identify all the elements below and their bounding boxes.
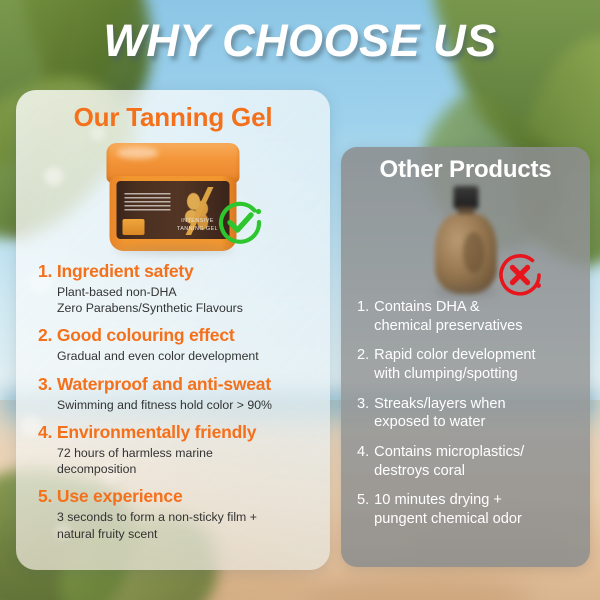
- drawback-text: Contains DHA & chemical preservatives: [374, 298, 522, 335]
- benefit-heading: 4. Environmentally friendly: [38, 422, 330, 443]
- bottle-body: [435, 214, 497, 294]
- drawback-text: Contains microplastics/ destroys coral: [374, 443, 524, 480]
- bottle-cap: [453, 186, 478, 209]
- benefit-heading: 3. Waterproof and anti-sweat: [38, 374, 330, 395]
- benefits-list: 1. Ingredient safety Plant-based non-DHA…: [16, 261, 330, 542]
- benefit-title: Waterproof and anti-sweat: [57, 374, 271, 394]
- page-title: WHY CHOOSE US: [0, 15, 600, 67]
- jar-label: INTENSIVETANNING GEL: [117, 181, 230, 239]
- benefit-title: Environmentally friendly: [57, 422, 256, 442]
- other-products-title: Other Products: [341, 156, 590, 184]
- list-item: 1. Contains DHA & chemical preservatives: [357, 298, 578, 335]
- jar-name-line1: INTENSIVE: [181, 218, 214, 224]
- competitor-bottle: [435, 186, 497, 294]
- list-item: 4. Environmentally friendly 72 hours of …: [38, 422, 330, 477]
- infographic-canvas: WHY CHOOSE US Our Tanning Gel INTENSIVET…: [0, 0, 600, 600]
- our-product-image: INTENSIVETANNING GEL: [16, 137, 330, 255]
- drawback-number: 2.: [357, 346, 369, 383]
- our-product-title: Our Tanning Gel: [16, 102, 330, 133]
- benefit-detail: Swimming and fitness hold color > 90%: [57, 397, 330, 413]
- list-item: 1. Ingredient safety Plant-based non-DHA…: [38, 261, 330, 316]
- drawbacks-list: 1. Contains DHA & chemical preservatives…: [341, 298, 590, 529]
- drawback-text: Rapid color development with clumping/sp…: [374, 346, 535, 383]
- cross-circle-icon: [494, 249, 546, 301]
- list-item: 4. Contains microplastics/ destroys cora…: [357, 443, 578, 480]
- list-item: 5. Use experience 3 seconds to form a no…: [38, 486, 330, 541]
- benefit-detail: 72 hours of harmless marine decompositio…: [57, 445, 330, 477]
- drawback-text: 10 minutes drying + pungent chemical odo…: [374, 491, 522, 528]
- benefit-title: Good colouring effect: [57, 325, 235, 345]
- list-item: 3. Waterproof and anti-sweat Swimming an…: [38, 374, 330, 413]
- other-products-panel: Other Products 1. Contains DHA & chemica…: [341, 147, 590, 567]
- drawback-text: Streaks/layers when exposed to water: [374, 395, 505, 432]
- benefit-number: 5.: [38, 486, 52, 506]
- list-item: 5. 10 minutes drying + pungent chemical …: [357, 491, 578, 528]
- benefit-detail: 3 seconds to form a non-sticky film + na…: [57, 509, 330, 541]
- competitor-product-image: [341, 184, 590, 296]
- jar-label-text-lines: [125, 193, 171, 213]
- benefit-heading: 1. Ingredient safety: [38, 261, 330, 282]
- benefit-number: 2.: [38, 325, 52, 345]
- benefit-title: Use experience: [57, 486, 183, 506]
- check-circle-icon: [214, 196, 266, 248]
- benefit-title: Ingredient safety: [57, 261, 194, 281]
- benefit-heading: 5. Use experience: [38, 486, 330, 507]
- benefit-number: 3.: [38, 374, 52, 394]
- jar-name-line2: TANNING GEL: [177, 226, 218, 232]
- our-product-panel: Our Tanning Gel INTENSIVETANNING GEL: [16, 90, 330, 570]
- list-item: 3. Streaks/layers when exposed to water: [357, 395, 578, 432]
- list-item: 2. Good colouring effect Gradual and eve…: [38, 325, 330, 364]
- drawback-number: 1.: [357, 298, 369, 335]
- bottle-shadow: [434, 287, 498, 296]
- benefit-number: 4.: [38, 422, 52, 442]
- drawback-number: 4.: [357, 443, 369, 480]
- benefit-detail: Gradual and even color development: [57, 348, 330, 364]
- drawback-number: 5.: [357, 491, 369, 528]
- benefit-number: 1.: [38, 261, 52, 281]
- benefit-heading: 2. Good colouring effect: [38, 325, 330, 346]
- drawback-number: 3.: [357, 395, 369, 432]
- list-item: 2. Rapid color development with clumping…: [357, 346, 578, 383]
- jar-label-badge: [123, 219, 145, 235]
- benefit-detail: Plant-based non-DHA Zero Parabens/Synthe…: [57, 284, 330, 316]
